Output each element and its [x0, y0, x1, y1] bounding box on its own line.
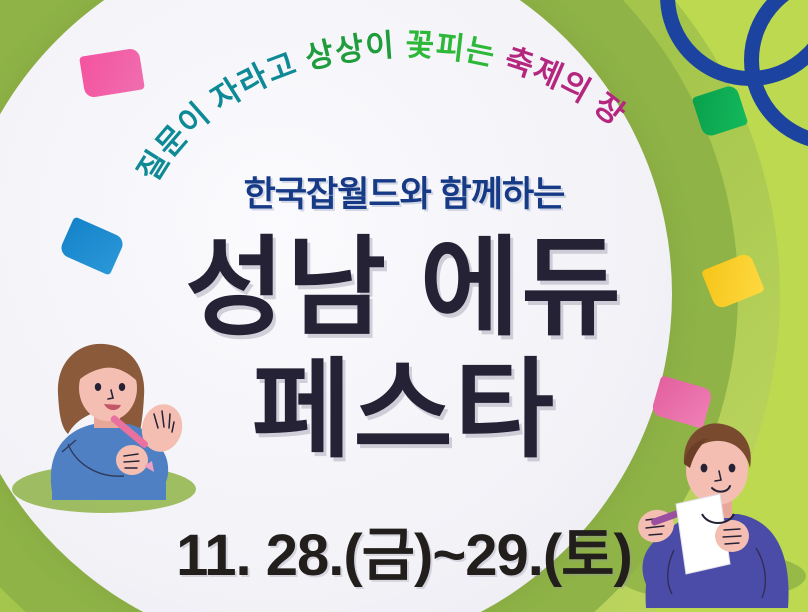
svg-text:질문이 자라고 상상이 꽃피는 축제의 장: 질문이 자라고 상상이 꽃피는 축제의 장 [131, 27, 632, 187]
character-woman-with-pencil [16, 332, 191, 507]
arc-segment-3: 꽃피는 [405, 27, 509, 75]
arc-segment-2: 상상이 [302, 27, 406, 75]
character-man-with-paper [616, 408, 806, 608]
title-line-1: 성남 에듀 [0, 234, 808, 342]
poster-canvas: 질문이 자라고 상상이 꽃피는 축제의 장 한국잡월드와 함께하는 성남 에듀 … [0, 0, 808, 612]
arc-segment-4: 축제의 장 [500, 41, 632, 132]
subtitle: 한국잡월드와 함께하는 [0, 166, 808, 217]
